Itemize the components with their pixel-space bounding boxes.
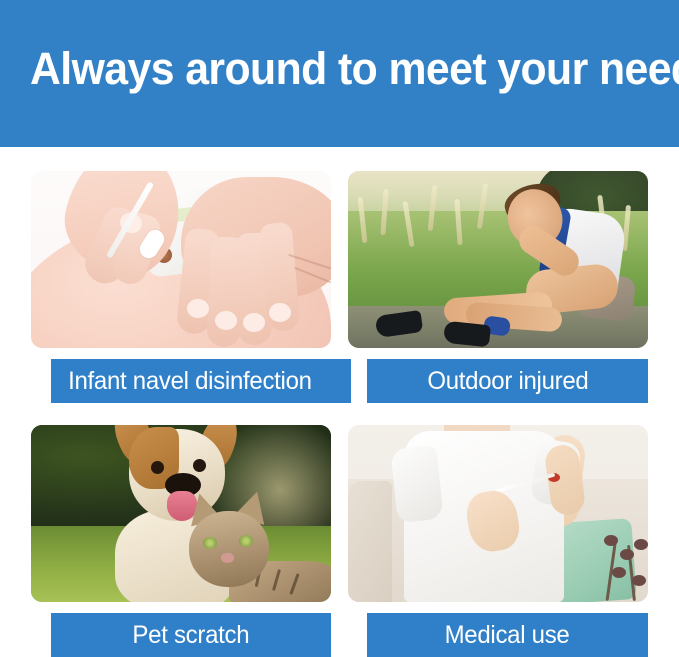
plant-leaf-shape — [612, 567, 626, 578]
product-feature-page: Always around to meet your needs — [0, 0, 679, 654]
card-label-bar: Pet scratch — [51, 613, 331, 657]
page-title: Always around to meet your needs — [30, 41, 679, 97]
plant-leaf-shape — [632, 575, 646, 586]
use-case-card-pet-scratch[interactable]: Pet scratch — [31, 425, 331, 657]
use-case-card-infant-navel-disinfection[interactable]: Infant navel disinfection — [31, 171, 331, 403]
infant-navel-disinfection-photo — [31, 171, 331, 348]
outdoor-injured-photo — [348, 171, 648, 348]
card-label-text: Infant navel disinfection — [68, 367, 312, 396]
medical-use-photo — [348, 425, 648, 602]
card-label-bar: Infant navel disinfection — [51, 359, 351, 403]
use-case-grid: Infant navel disinfection — [0, 147, 679, 654]
card-label-bar: Outdoor injured — [367, 359, 648, 403]
cat-head-shape — [189, 511, 269, 587]
plant-leaf-shape — [620, 549, 634, 560]
fingernail-shape — [187, 299, 209, 318]
card-label-text: Medical use — [445, 621, 570, 650]
plant-leaf-shape — [604, 535, 618, 546]
dog-eye-shape — [151, 461, 164, 474]
cat-eye-shape — [239, 535, 253, 547]
fingernail-shape — [243, 313, 265, 332]
plant-leaf-shape — [634, 539, 648, 550]
card-label-text: Pet scratch — [133, 621, 250, 650]
card-label-text: Outdoor injured — [427, 367, 588, 396]
fingernail-shape — [215, 311, 237, 330]
pet-scratch-photo — [31, 425, 331, 602]
sofa-arm-shape — [348, 481, 392, 602]
tshirt-sleeve-shape — [390, 445, 443, 523]
fingernail-shape — [269, 303, 291, 322]
card-label-bar: Medical use — [367, 613, 648, 657]
use-case-card-outdoor-injured[interactable]: Outdoor injured — [348, 171, 648, 403]
use-case-card-medical-use[interactable]: Medical use — [348, 425, 648, 657]
cat-nose-shape — [221, 553, 234, 563]
dog-eye-shape — [193, 459, 206, 472]
header-banner: Always around to meet your needs — [0, 0, 679, 147]
cat-eye-shape — [203, 537, 217, 549]
